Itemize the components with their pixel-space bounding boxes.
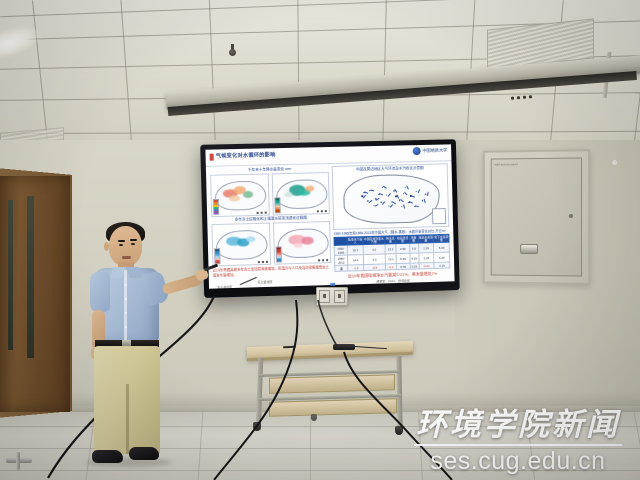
map-flux-vector [393, 201, 397, 204]
table-modesty-panel [269, 374, 395, 394]
map-flux-vector [363, 195, 366, 198]
map-scale-bar [256, 212, 266, 214]
map-station-point [382, 187, 383, 188]
map-legend [214, 248, 220, 264]
table-row-label: 1960-1985 [334, 245, 348, 255]
university-name: 中国地质大学 [422, 147, 447, 154]
annotation-arrow-icon [240, 277, 257, 285]
sprinkler-head-icon [229, 44, 236, 56]
map-scale-bar [318, 259, 328, 261]
wall-highlight [612, 160, 617, 165]
map-flux-vector [415, 206, 419, 208]
table-cell: 6.65 [396, 254, 410, 264]
map-flux-vector [387, 193, 390, 197]
map-station-point [401, 206, 402, 207]
power-adapter[interactable] [333, 344, 355, 350]
map-flux-vector [397, 195, 399, 199]
ceiling-grid-line [297, 0, 299, 152]
wall-access-panel[interactable]: wall access panel [483, 149, 590, 284]
map-flux-vector [376, 198, 380, 201]
map-card [210, 173, 269, 217]
presenter-eyebrow [130, 239, 137, 241]
table-cell: 2.99 [396, 244, 410, 254]
table-cell: -0.9 [364, 264, 386, 271]
table-cell: -1.9 [348, 265, 364, 271]
map-station-point [403, 193, 404, 194]
china-map-caption: 中国及周边地区大气环流及水汽收支示意图 [333, 164, 447, 173]
map-flux-vector [379, 193, 383, 195]
table-cell: 13.1 [385, 254, 396, 264]
map-station-point [422, 200, 423, 201]
slide-body: 千年来十年降水量变化 mm [206, 161, 455, 289]
table-cell: 3.3 [363, 254, 385, 265]
wall-power-outlet[interactable] [316, 287, 348, 306]
presentation-slide: 气候变化对水循环的影响 中国地质大学 千年来十年降水量变化 mm [205, 144, 454, 288]
map-inset [432, 208, 446, 224]
slide-left-column: 千年来十年降水量变化 mm [210, 166, 332, 289]
map-flux-vector [406, 186, 408, 190]
map-card [272, 221, 331, 265]
map-flux-vector [374, 204, 378, 206]
map-flux-vector [403, 205, 404, 209]
map-scale-bar [257, 261, 267, 263]
map-flux-vector [424, 199, 426, 203]
door-glass-right [27, 196, 34, 358]
watermark-title: 环境学院新闻 [408, 409, 628, 442]
map-flux-vector [411, 195, 415, 197]
presenter-eyebrow [118, 240, 125, 242]
table-column-header: 降水总量 [385, 236, 396, 245]
access-panel-latch-icon[interactable] [520, 244, 538, 254]
trouser-seam [126, 384, 129, 454]
map-flux-vector [382, 201, 385, 204]
pointer-note-right: 冻土退化区 [257, 280, 272, 284]
university-logo: 中国地质大学 [412, 146, 447, 155]
shirt-placket [124, 270, 127, 340]
wooden-double-door[interactable] [0, 176, 70, 412]
table-modesty-panel [269, 398, 397, 417]
table-cell: 13.2 [385, 244, 396, 254]
presenter-eye [131, 243, 135, 245]
map-station-point [404, 187, 405, 188]
map-scale-bar [317, 210, 327, 212]
map-row-top [210, 172, 330, 217]
table-cell: 3.9 [409, 243, 418, 253]
table-cell: 4.19 [410, 253, 419, 263]
presenter-mouth [122, 256, 131, 259]
table-cell: 14.4 [348, 255, 364, 265]
door-lock-icon[interactable] [16, 452, 20, 470]
table-cell: 5.39 [434, 243, 450, 253]
presenter-shoe-right [129, 447, 159, 460]
slide-title: 气候变化对水循环的影响 [216, 151, 276, 159]
presenter-eye [119, 244, 123, 246]
map-flux-vector [395, 189, 398, 193]
map-flux-vector [400, 199, 403, 202]
table-cell: 4.2 [363, 244, 385, 255]
ceiling-grid-line [0, 0, 640, 17]
map-flux-vector [383, 186, 387, 189]
china-outline [343, 173, 440, 224]
table-caster-icon [395, 426, 403, 435]
map-legend [274, 197, 280, 213]
table-leg [256, 358, 264, 430]
map-flux-vector [364, 192, 368, 194]
table-cell: 0.29 [410, 263, 419, 269]
outlet-socket[interactable] [334, 290, 345, 303]
title-accent-bar [210, 154, 214, 161]
water-cycle-table: 陆地水汽输入中国区域蒸发水汽量降水总量地表径流量蒸散量地表水资源量地下水资源量 … [333, 234, 450, 273]
presenter [78, 222, 214, 472]
shirt-button [125, 326, 127, 328]
table-cell: 2.29 [418, 243, 434, 253]
map-card [211, 223, 270, 267]
map-card [271, 172, 330, 215]
table-cell: 0.25 [434, 262, 450, 268]
display-power-led [330, 283, 335, 286]
table-cell: -0.1 [385, 264, 396, 270]
watermark-url: ses.cug.edu.cn [408, 449, 628, 474]
presenter-ear [104, 242, 109, 251]
display-screen[interactable]: 气候变化对水循环的影响 中国地质大学 千年来十年降水量变化 mm [205, 144, 454, 288]
table-cell: 16.3 [347, 245, 363, 255]
map-flux-vector [389, 204, 392, 207]
ceiling-grid-line [209, 0, 216, 152]
map-row-bottom [211, 221, 331, 266]
map-legend [213, 199, 219, 215]
map-flux-vector [369, 199, 373, 202]
ceiling-grid-line [120, 0, 132, 152]
map-flux-vector [418, 189, 420, 193]
shirt-button [125, 312, 127, 314]
table-cell: -0.01 [419, 263, 435, 269]
presenter-head [109, 226, 142, 266]
table-column-header: 蒸散量 [409, 235, 418, 244]
outlet-socket[interactable] [319, 290, 330, 303]
slide-right-column: 中国及周边地区大气环流及水汽收支示意图 1960-1985年和1986-2013… [332, 163, 451, 288]
ceiling-grid-line [0, 131, 640, 134]
shirt-sleeve-left [90, 272, 110, 312]
watermark: 环境学院新闻 ses.cug.edu.cn [408, 409, 628, 474]
map-flux-vector [427, 192, 428, 196]
table-cell: 0.66 [397, 264, 410, 270]
china-circulation-map: 中国及周边地区大气环流及水汽收支示意图 [332, 163, 450, 230]
table-cell: 2.28 [418, 253, 434, 263]
shirt-button [125, 298, 127, 300]
table-caster-icon [311, 414, 317, 421]
access-panel-label: wall access panel [495, 162, 518, 166]
classroom-photo: wall access panel 气候变化对水循环的影响 中国地质大学 [0, 0, 640, 480]
map-flux-vector [370, 190, 374, 191]
map-flux-vector [404, 192, 407, 195]
door-glass-left [8, 200, 13, 350]
access-panel-screw-icon [569, 214, 573, 218]
map-legend [275, 246, 281, 262]
wall-mounted-display[interactable]: 气候变化对水循环的影响 中国地质大学 千年来十年降水量变化 mm [200, 139, 460, 298]
table-cell: 5.44 [434, 253, 450, 263]
shirt-button [125, 284, 127, 286]
presenter-shoe-left [92, 450, 123, 463]
table-row-label: 1986-2013 [334, 255, 348, 265]
table-caster-icon [253, 422, 261, 431]
map-flux-vector [410, 201, 414, 203]
table-row-label: 差 [335, 265, 348, 271]
folding-table[interactable] [247, 344, 413, 436]
watermark-divider [414, 444, 622, 446]
university-emblem-icon [412, 147, 420, 155]
